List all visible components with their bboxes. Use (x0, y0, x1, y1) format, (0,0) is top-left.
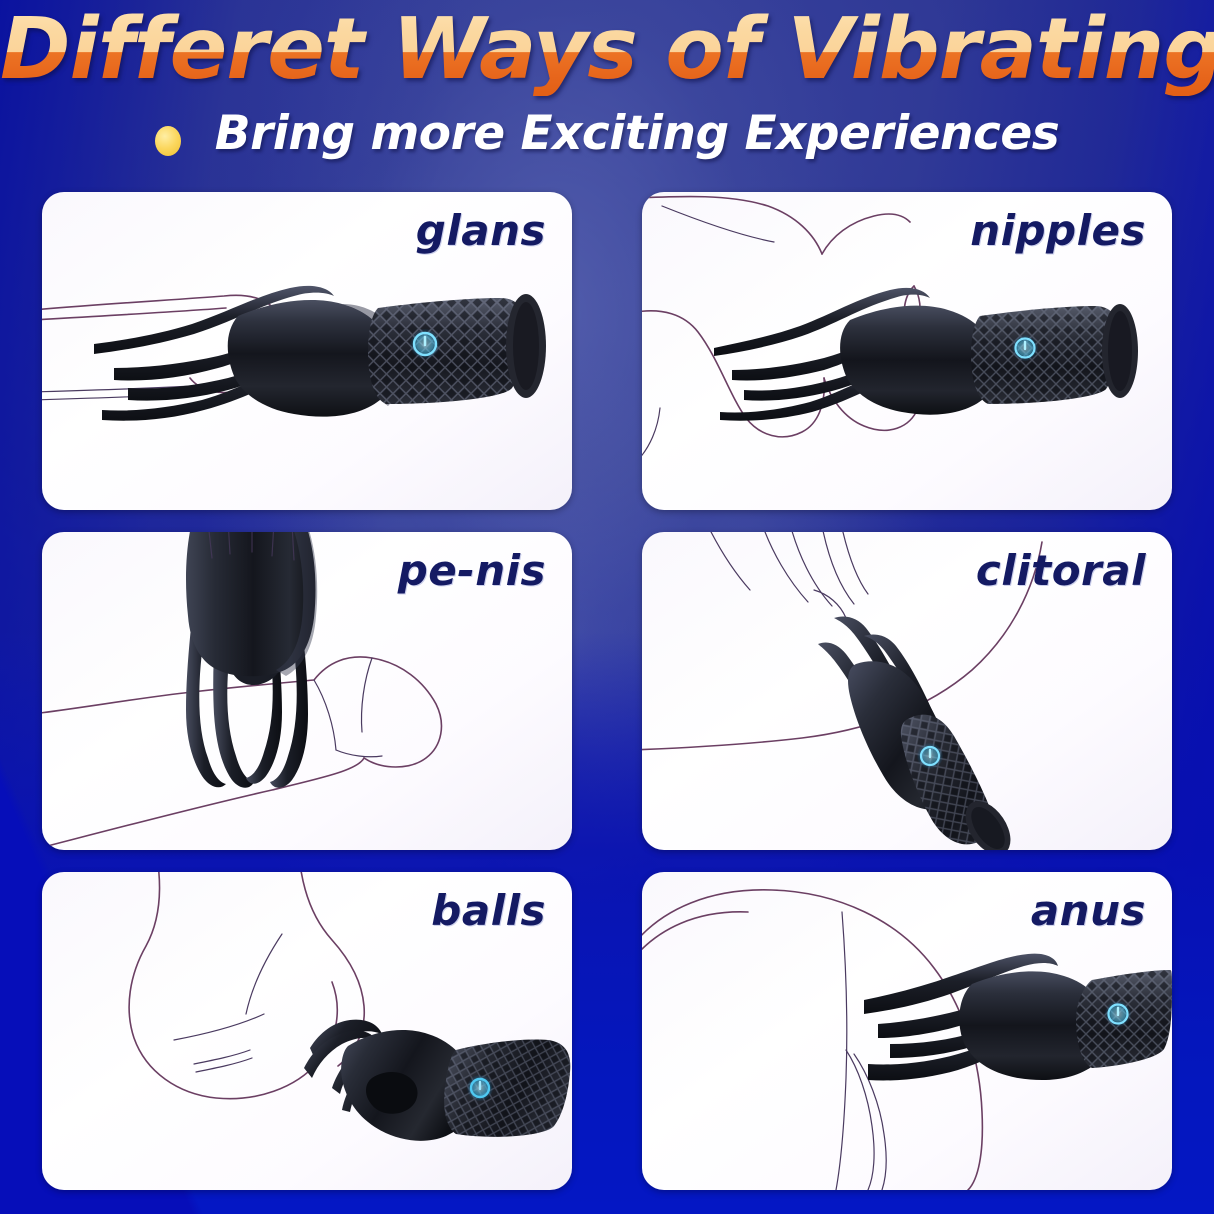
device-grip-texture (368, 298, 524, 404)
header: Differet Ways of Vibrating Bring more Ex… (0, 0, 1214, 180)
feature-card-clitoral[interactable]: clitoral (642, 532, 1172, 850)
feature-card-penis[interactable]: pe-nis (42, 532, 572, 850)
feature-card-balls[interactable]: balls (42, 872, 572, 1190)
feature-card-glans[interactable]: glans (42, 192, 572, 510)
feature-card-grid: glans (42, 192, 1172, 1190)
card-label: clitoral (976, 546, 1146, 596)
card-label: anus (1031, 886, 1146, 936)
page-subtitle: Bring more Exciting Experiences (215, 106, 1059, 162)
card-label: pe-nis (398, 546, 546, 596)
power-button-icon[interactable] (410, 329, 440, 359)
card-label: nipples (970, 206, 1146, 256)
power-button-icon[interactable] (467, 1075, 493, 1101)
page-title: Differet Ways of Vibrating (0, 4, 1214, 96)
feature-card-nipples[interactable]: nipples (642, 192, 1172, 510)
device-grip-texture (971, 306, 1118, 404)
card-label: glans (416, 206, 546, 256)
feature-card-anus[interactable]: anus (642, 872, 1172, 1190)
dot-icon (155, 126, 181, 156)
device-end-cap-inner (513, 302, 539, 390)
power-button-icon[interactable] (1012, 335, 1038, 361)
device-end-cap-inner (1108, 311, 1132, 391)
card-label: balls (431, 886, 546, 936)
device-grip-texture (444, 1039, 570, 1136)
power-button-icon[interactable] (917, 743, 943, 769)
infographic-page: Differet Ways of Vibrating Bring more Ex… (0, 0, 1214, 1214)
subtitle-row: Bring more Exciting Experiences (0, 100, 1214, 168)
power-button-icon[interactable] (1105, 1001, 1131, 1027)
